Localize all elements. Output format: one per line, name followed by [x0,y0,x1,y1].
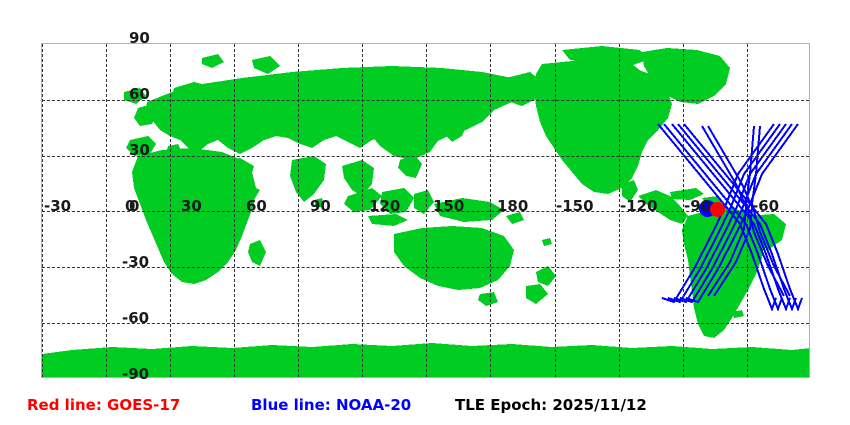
lon-tick-150: 150 [433,199,464,214]
lat-tick-90: 90 [129,31,150,46]
lon-tick--90: -90 [684,199,711,214]
lon-tick--30: -30 [44,199,71,214]
lon-tick-180: 180 [497,199,528,214]
lat-tick--90: -90 [122,367,149,382]
lat-tick-30: 30 [129,143,150,158]
legend-goes17: Red line: GOES-17 [27,398,180,413]
lat-tick-0: 0 [129,199,139,214]
lon-tick-30: 30 [181,199,202,214]
legend-bar: Red line: GOES-17 Blue line: NOAA-20 TLE… [0,396,850,422]
lon-tick--120: -120 [620,199,658,214]
lon-tick--60: -60 [752,199,779,214]
lon-tick--150: -150 [556,199,594,214]
lon-tick-90: 90 [310,199,331,214]
lon-tick-120: 120 [369,199,400,214]
legend-noaa20: Blue line: NOAA-20 [251,398,411,413]
lon-tick-60: 60 [246,199,267,214]
legend-tle-epoch: TLE Epoch: 2025/11/12 [455,398,647,413]
lat-tick--30: -30 [122,255,149,270]
goes17-position-marker [710,202,725,217]
lat-tick--60: -60 [122,311,149,326]
lat-tick-60: 60 [129,87,150,102]
